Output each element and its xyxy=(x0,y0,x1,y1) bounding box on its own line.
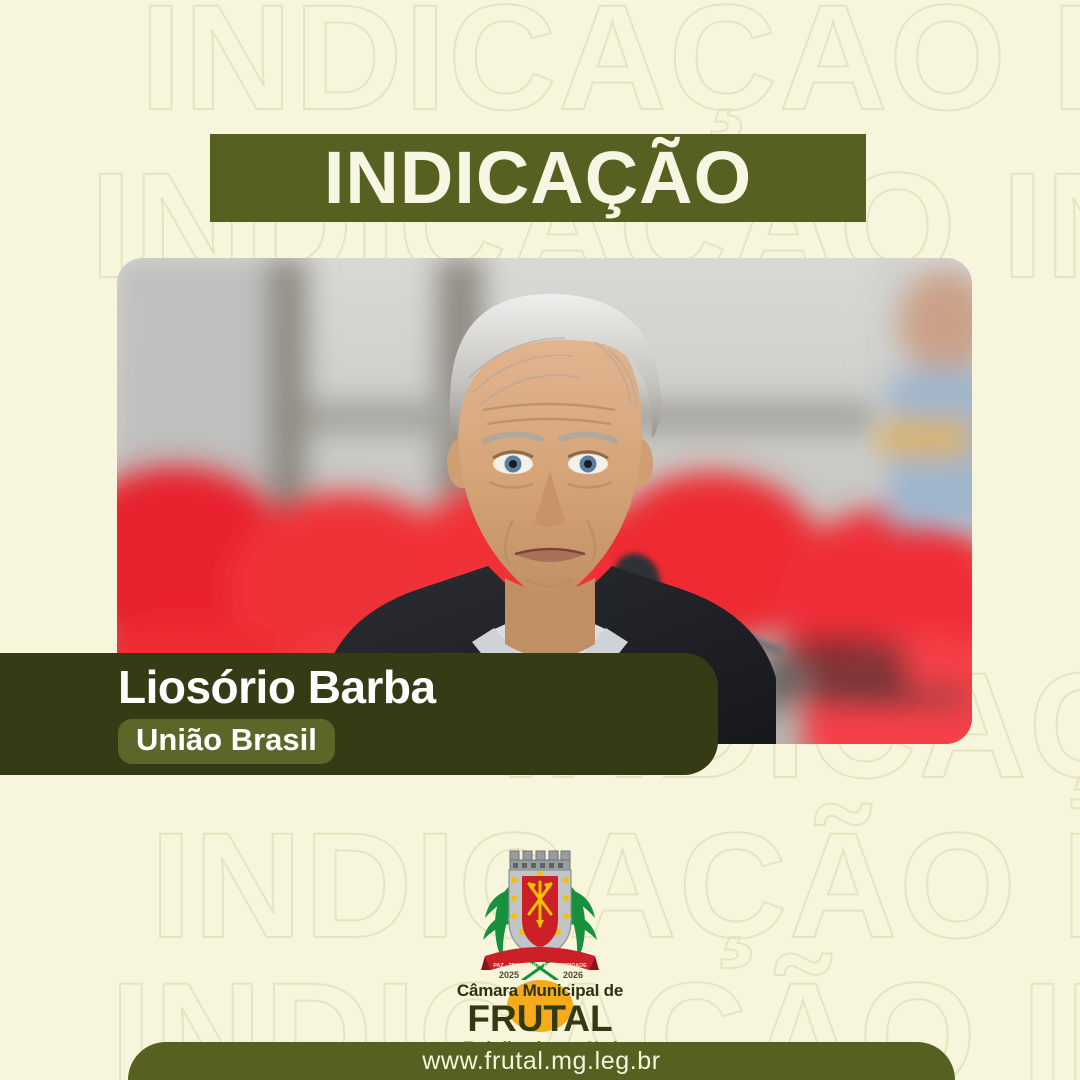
councilman-name-card: Liosório Barba União Brasil xyxy=(0,653,718,775)
crest-year-right: 2026 xyxy=(563,970,583,980)
page-title: INDICAÇÃO xyxy=(324,141,752,215)
frutal-coat-of-arms-icon: PAZ - TRABALHO - PROSPERIDADE 2025 2026 xyxy=(465,840,615,980)
crest-motto-text: PAZ - TRABALHO - PROSPERIDADE xyxy=(493,963,587,969)
party-badge: União Brasil xyxy=(118,719,335,765)
website-url[interactable]: www.frutal.mg.leg.br xyxy=(422,1047,660,1076)
crest-year-left: 2025 xyxy=(499,970,519,980)
logo-wordmark: Câmara Municipal de FRUTAL Trabalhando p… xyxy=(430,982,650,1044)
page-title-banner: INDICAÇÃO xyxy=(210,134,866,222)
watermark-row: INDICAÇÃO INDICAÇÃO xyxy=(140,0,1080,132)
institution-logo: PAZ - TRABALHO - PROSPERIDADE 2025 2026 … xyxy=(0,840,1080,1044)
councilman-name: Liosório Barba xyxy=(118,663,718,713)
footer-bar: www.frutal.mg.leg.br xyxy=(128,1042,955,1080)
logo-line-city: FRUTAL xyxy=(430,1000,650,1037)
